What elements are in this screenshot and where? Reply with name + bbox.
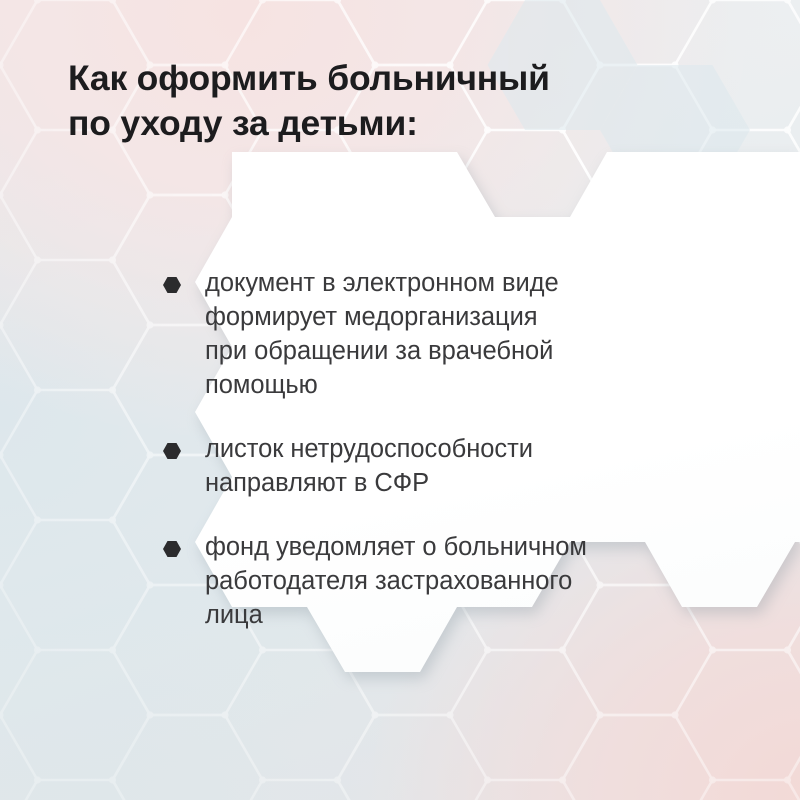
- list-item: фонд уведомляет о больничном работодател…: [160, 530, 720, 632]
- hexagon-bullet-icon: [163, 443, 181, 459]
- content-layer: Как оформить больничный по уходу за деть…: [0, 0, 800, 800]
- bullet-list: документ в электронном виде формирует ме…: [160, 266, 720, 632]
- hexagon-bullet-icon: [163, 541, 181, 557]
- list-item-text: листок нетрудоспособности направляют в С…: [205, 432, 720, 500]
- list-item: документ в электронном виде формирует ме…: [160, 266, 720, 402]
- list-item: листок нетрудоспособности направляют в С…: [160, 432, 720, 500]
- list-item-text: фонд уведомляет о больничном работодател…: [205, 530, 720, 632]
- hexagon-bullet-icon: [163, 277, 181, 293]
- list-item-text: документ в электронном виде формирует ме…: [205, 266, 720, 402]
- page-title: Как оформить больничный по уходу за деть…: [68, 56, 708, 146]
- infographic-canvas: Как оформить больничный по уходу за деть…: [0, 0, 800, 800]
